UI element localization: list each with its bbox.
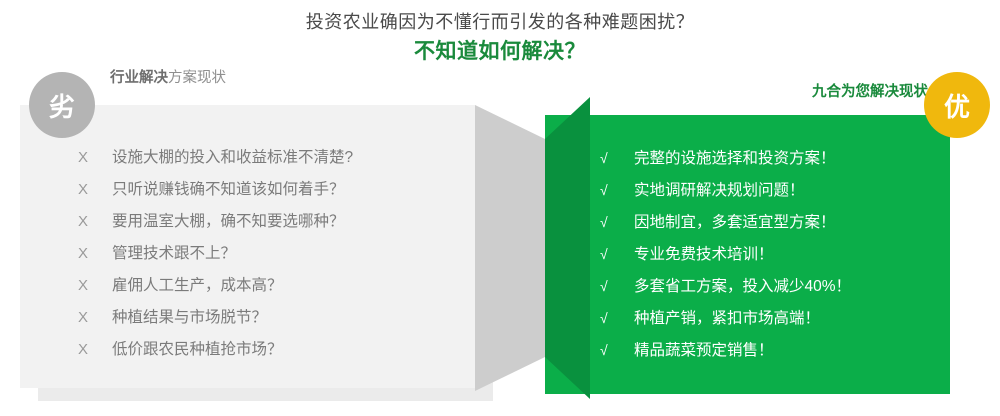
left-panel-list: X设施大棚的投入和收益标准不清楚? X只听说赚钱确不知道该如何着手？ X要用温室… [78, 142, 458, 366]
list-item-label: 完整的设施选择和投资方案！ [634, 143, 836, 175]
left-panel-subtitle: 行业解决方案现状 [110, 68, 226, 88]
right-panel-list: √完整的设施选择和投资方案！ √实地调研解决规划问题！ √因地制宜，多套适宜型方… [600, 142, 980, 366]
list-item-label: 低价跟农民种植抢市场？ [112, 334, 283, 366]
list-item: X低价跟农民种植抢市场？ [78, 334, 458, 366]
list-item: X要用温室大棚，确不知要选哪种？ [78, 206, 458, 238]
list-item-label: 种植产销，紧扣市场高端！ [634, 303, 820, 335]
list-item-label: 专业免费技术培训！ [634, 239, 774, 271]
headline-primary: 投资农业确因为不懂行而引发的各种难题困扰？ [0, 0, 1000, 35]
right-panel-subtitle: 九合为您解决现状 [812, 82, 928, 102]
list-item: X种植结果与市场脱节？ [78, 302, 458, 334]
cross-icon: X [78, 334, 112, 366]
list-item: √多套省工方案，投入减少40%！ [600, 270, 980, 302]
list-item-label: 雇佣人工生产，成本高？ [112, 270, 283, 302]
list-item: √因地制宜，多套适宜型方案！ [600, 206, 980, 238]
list-item-label: 精品蔬菜预定销售！ [634, 335, 774, 367]
check-icon: √ [600, 334, 634, 366]
cross-icon: X [78, 238, 112, 270]
cross-icon: X [78, 142, 112, 174]
list-item: X雇佣人工生产，成本高？ [78, 270, 458, 302]
list-item-label: 因地制宜，多套适宜型方案！ [634, 207, 836, 239]
check-icon: √ [600, 270, 634, 302]
headline-block: 投资农业确因为不懂行而引发的各种难题困扰？ 不知道如何解决？ [0, 0, 1000, 67]
cross-icon: X [78, 206, 112, 238]
list-item-label: 种植结果与市场脱节？ [112, 302, 267, 334]
list-item: √种植产销，紧扣市场高端！ [600, 302, 980, 334]
list-item: √精品蔬菜预定销售！ [600, 334, 980, 366]
list-item-label: 设施大棚的投入和收益标准不清楚? [112, 142, 353, 174]
list-item-label: 管理技术跟不上？ [112, 238, 236, 270]
list-item-label: 只听说赚钱确不知道该如何着手？ [112, 174, 345, 206]
list-item-label: 多套省工方案，投入减少40%！ [634, 271, 851, 303]
list-item: X设施大棚的投入和收益标准不清楚? [78, 142, 458, 174]
list-item-label: 实地调研解决规划问题！ [634, 175, 805, 207]
left-panel-subtitle-rest: 方案现状 [168, 70, 226, 86]
list-item: √完整的设施选择和投资方案！ [600, 142, 980, 174]
list-item: √实地调研解决规划问题！ [600, 174, 980, 206]
cross-icon: X [78, 174, 112, 206]
cross-icon: X [78, 302, 112, 334]
left-panel-subtitle-bold: 行业解决 [110, 70, 168, 86]
check-icon: √ [600, 142, 634, 174]
check-icon: √ [600, 174, 634, 206]
center-fold-ribbon [460, 97, 590, 399]
badge-good: 优 [924, 72, 990, 138]
check-icon: √ [600, 302, 634, 334]
headline-secondary: 不知道如何解决？ [0, 35, 1000, 67]
list-item: X管理技术跟不上？ [78, 238, 458, 270]
cross-icon: X [78, 270, 112, 302]
badge-bad: 劣 [29, 72, 95, 138]
list-item-label: 要用温室大棚，确不知要选哪种？ [112, 206, 345, 238]
check-icon: √ [600, 206, 634, 238]
list-item: √专业免费技术培训！ [600, 238, 980, 270]
list-item: X只听说赚钱确不知道该如何着手？ [78, 174, 458, 206]
check-icon: √ [600, 238, 634, 270]
